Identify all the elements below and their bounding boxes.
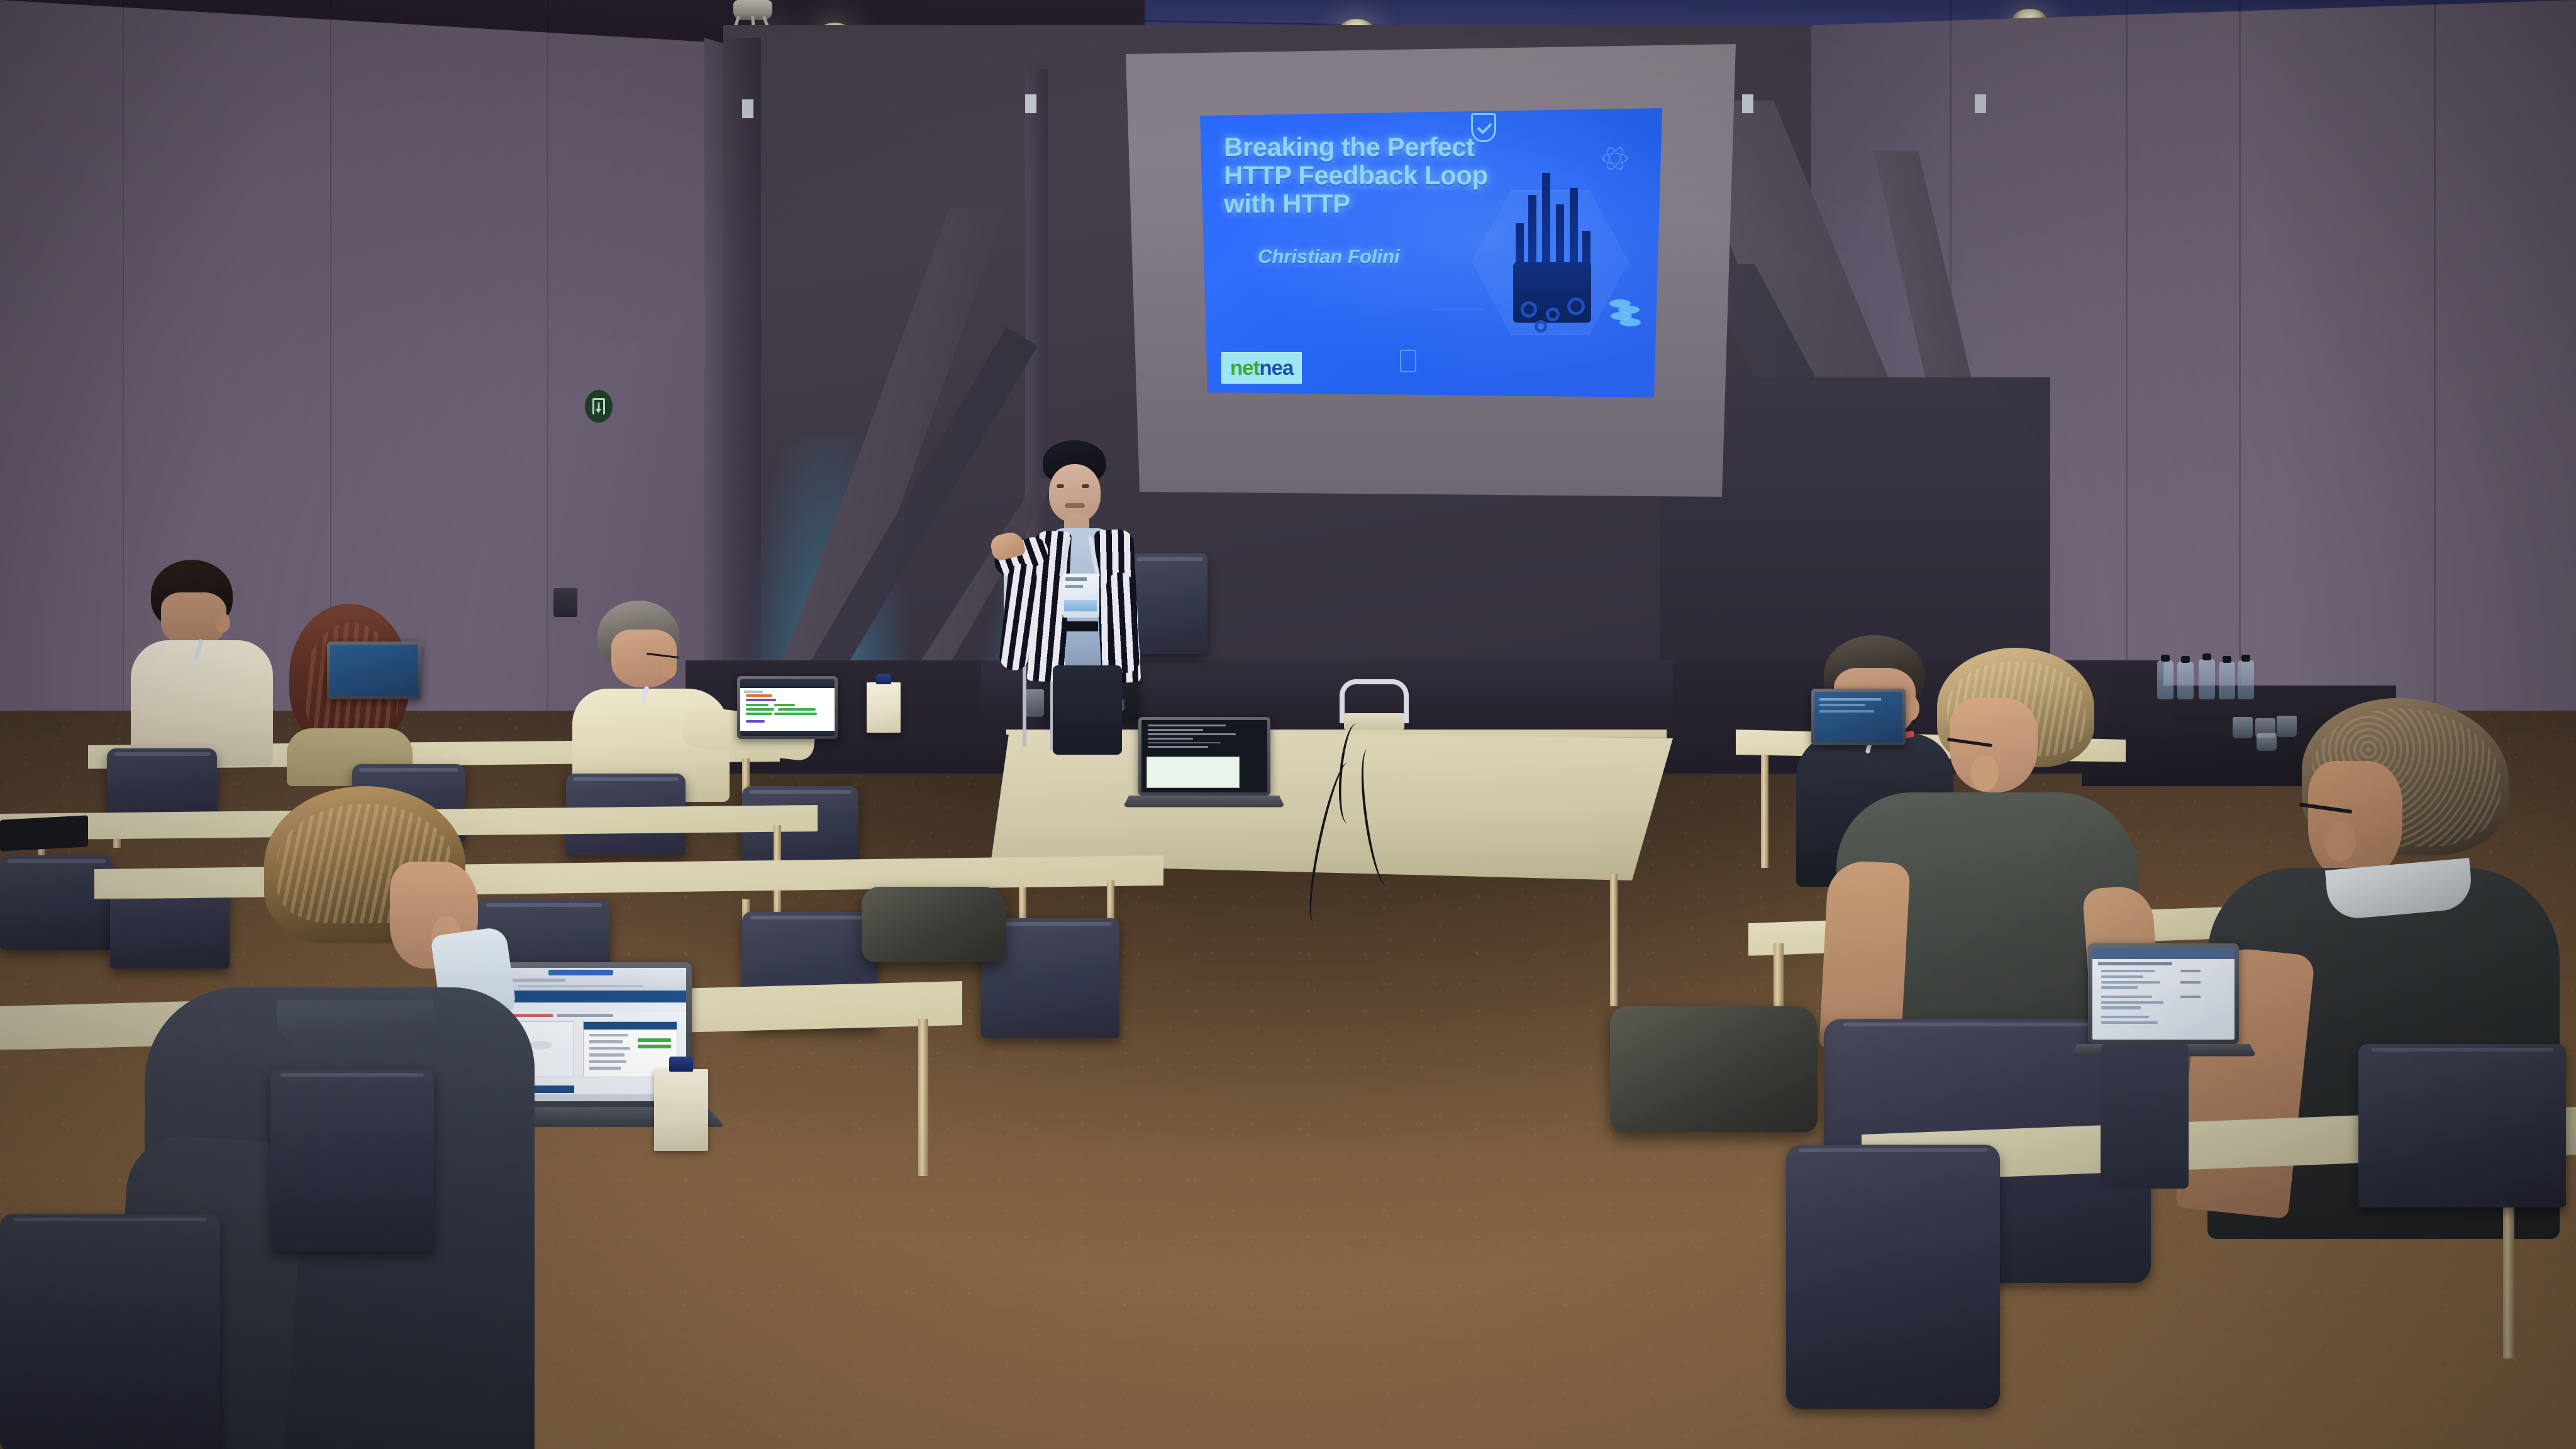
- badge-strip: [1064, 600, 1097, 611]
- emergency-exit-icon: [585, 390, 613, 423]
- table-leg: [1761, 755, 1768, 868]
- chair[interactable]: [270, 1069, 434, 1252]
- netnea-logo: netnea: [1221, 352, 1302, 384]
- conference-room-scene: Breaking the Perfect HTTP Feedback Loop …: [0, 0, 2576, 1449]
- table-leg: [1610, 874, 1618, 1006]
- badge-clip: [1062, 621, 1098, 631]
- attendee-ear: [1971, 755, 1999, 791]
- laptop-screen-webpage: [740, 679, 835, 736]
- attendee-ear: [2324, 821, 2356, 862]
- white-folding-chair[interactable]: [1340, 679, 1409, 723]
- chair[interactable]: [2358, 1044, 2566, 1207]
- digital-castle-art: [1509, 201, 1594, 336]
- panel-hanger: [1975, 94, 1986, 113]
- speaker: [981, 440, 1170, 755]
- attendee-ear: [215, 613, 230, 633]
- water-bottle[interactable]: [2238, 660, 2254, 699]
- panel-hanger: [742, 99, 753, 118]
- chair[interactable]: [1786, 1145, 2000, 1409]
- laptop-screen-document: [2092, 948, 2235, 1040]
- logo-text-nea: nea: [1260, 356, 1294, 379]
- water-bottle[interactable]: [2177, 662, 2194, 699]
- badge-line: [1065, 585, 1083, 588]
- slide-title: Breaking the Perfect HTTP Feedback Loop …: [1224, 133, 1507, 218]
- attendee-right-3-laptop[interactable]: [2088, 943, 2239, 1044]
- water-carton[interactable]: [654, 1069, 708, 1151]
- attendee-shirt: [131, 640, 273, 766]
- speaker-eye: [1057, 484, 1064, 488]
- water-bottle[interactable]: [2199, 659, 2215, 699]
- coins-icon: [1609, 299, 1646, 328]
- chair[interactable]: [0, 1214, 220, 1449]
- panel-hanger: [1025, 94, 1036, 113]
- speaker-mouth: [1065, 503, 1085, 508]
- attendee-ear: [662, 657, 677, 679]
- table-leg: [918, 1019, 928, 1176]
- attendee-left-laptop[interactable]: [327, 641, 421, 699]
- laptop-screen-blue: [330, 645, 418, 696]
- floor-backpack[interactable]: [1610, 1006, 1818, 1132]
- water-bottle[interactable]: [2219, 662, 2235, 699]
- speaker-eye: [1082, 484, 1089, 488]
- water-carton[interactable]: [867, 682, 901, 733]
- logo-text-net: net: [1230, 356, 1260, 379]
- speaker-trousers: [1053, 665, 1122, 755]
- speaker-head: [1049, 464, 1101, 522]
- backpack-on-chair[interactable]: [862, 887, 1006, 962]
- badge-line: [1065, 577, 1087, 581]
- atom-icon: [1602, 146, 1628, 171]
- panel-hanger: [1742, 94, 1753, 113]
- slide-author: Christian Folini: [1258, 245, 1400, 268]
- attendee-left-3-laptop[interactable]: [737, 676, 838, 739]
- presentation-slide: Breaking the Perfect HTTP Feedback Loop …: [1200, 108, 1662, 397]
- water-bottle[interactable]: [2157, 660, 2173, 699]
- chair-frame[interactable]: [2101, 1044, 2189, 1189]
- document-icon: [1400, 350, 1416, 372]
- attendee-head: [2308, 761, 2402, 880]
- shirt-collar: [277, 1000, 434, 1044]
